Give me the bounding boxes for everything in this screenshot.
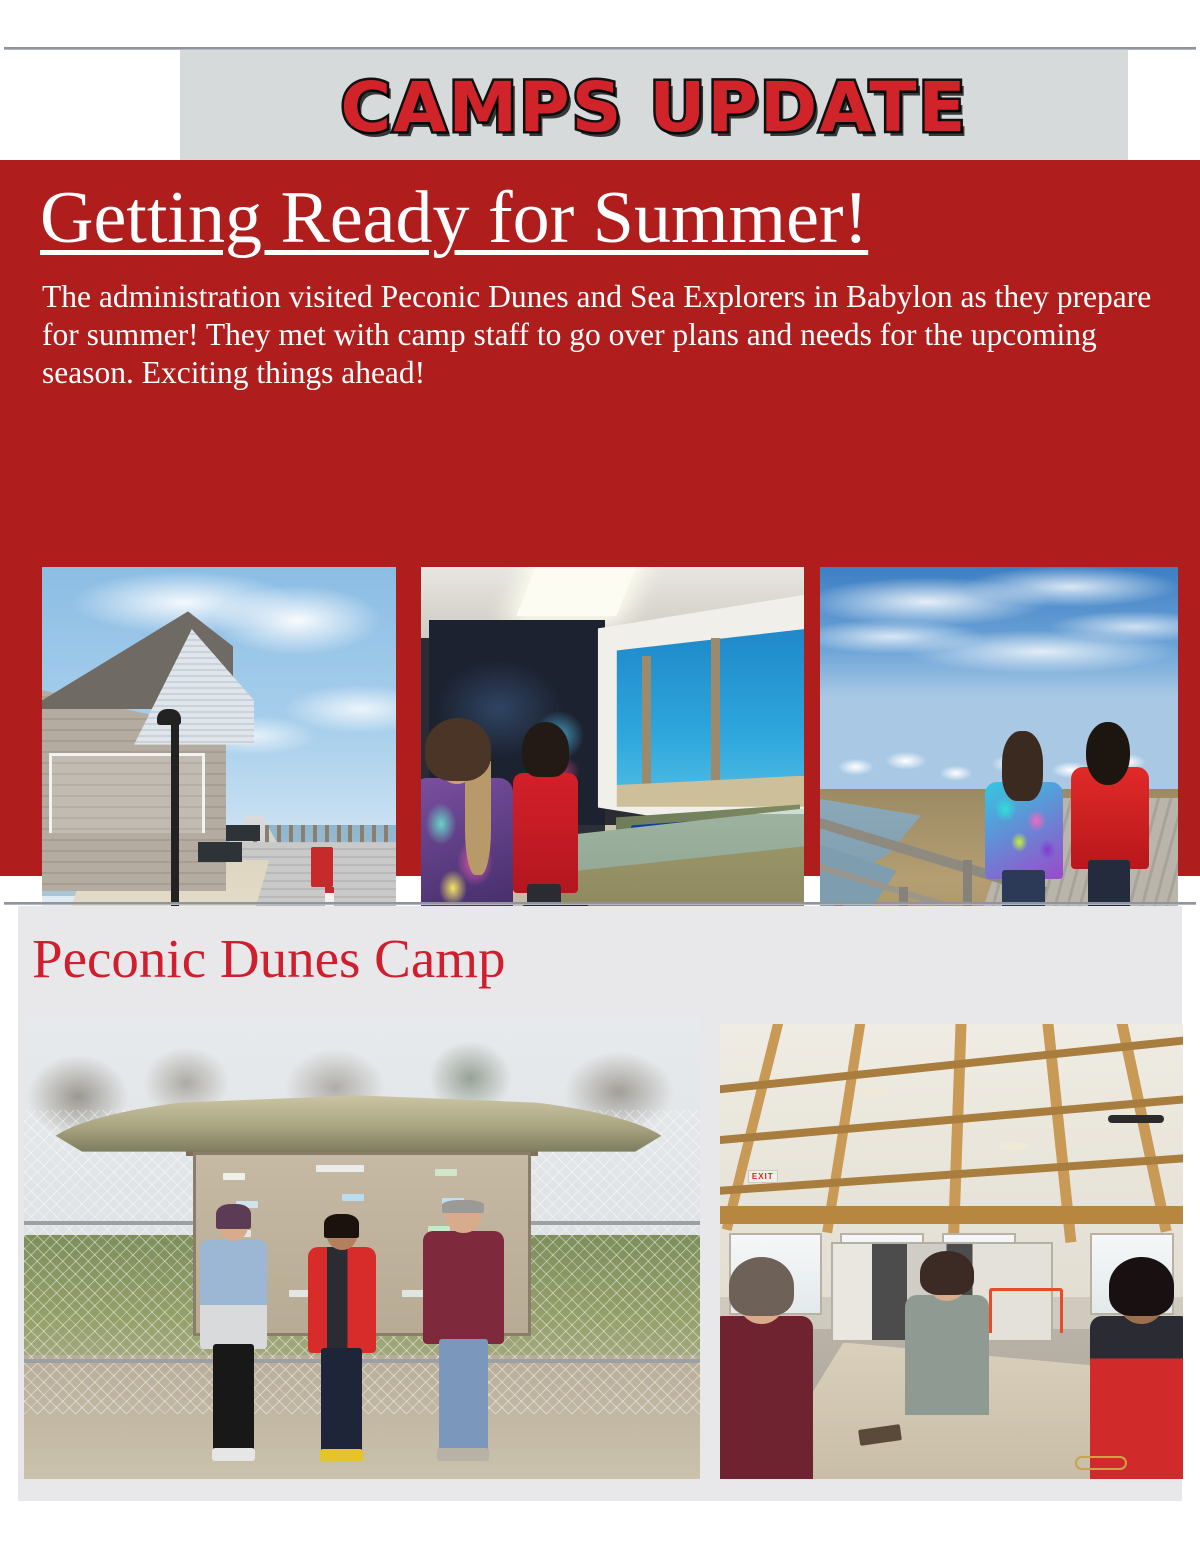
lower-heading-peconic-dunes-camp: Peconic Dunes Camp xyxy=(32,926,506,992)
photo5-person-maroon-sweatshirt xyxy=(720,1270,813,1479)
photo5-person-beanie xyxy=(905,1261,988,1416)
hero-body-text: The administration visited Peconic Dunes… xyxy=(42,278,1172,392)
photo1-bench xyxy=(198,842,242,862)
lower-divider-rule-top xyxy=(4,902,1196,905)
hero-heading: Getting Ready for Summer! xyxy=(40,174,1180,262)
photo5-hockey-goal xyxy=(989,1288,1063,1334)
hero-section: Getting Ready for Summer! The administra… xyxy=(0,160,1200,876)
newsletter-page: CAMPS UPDATE Getting Ready for Summer! T… xyxy=(0,0,1200,1553)
photo4-person-denim-jacket xyxy=(200,1212,268,1461)
photo-pavilion-meeting: EXIT xyxy=(720,1024,1183,1479)
masthead-title: CAMPS UPDATE xyxy=(180,62,1128,154)
photo-group-bulletin-board xyxy=(24,1018,700,1479)
photo4-person-maroon-hoodie xyxy=(423,1202,504,1460)
photo5-sunglasses-on-table xyxy=(1075,1456,1127,1470)
photo4-person-red-jacket xyxy=(308,1221,376,1461)
photo5-ceiling-fan xyxy=(1108,1115,1164,1123)
photo1-red-box xyxy=(311,847,333,887)
photo2-tank-piling xyxy=(642,656,651,789)
photo1-railing xyxy=(49,753,205,833)
photo2-tank-piling xyxy=(711,638,720,789)
photo1-bench xyxy=(226,825,260,841)
photo5-wall-beam xyxy=(720,1206,1183,1224)
photo5-person-red-jacket xyxy=(1090,1270,1183,1479)
photo5-pendant-light xyxy=(859,1088,889,1096)
photo5-exit-sign: EXIT xyxy=(748,1170,778,1183)
photo1-lamp-head xyxy=(157,709,181,725)
